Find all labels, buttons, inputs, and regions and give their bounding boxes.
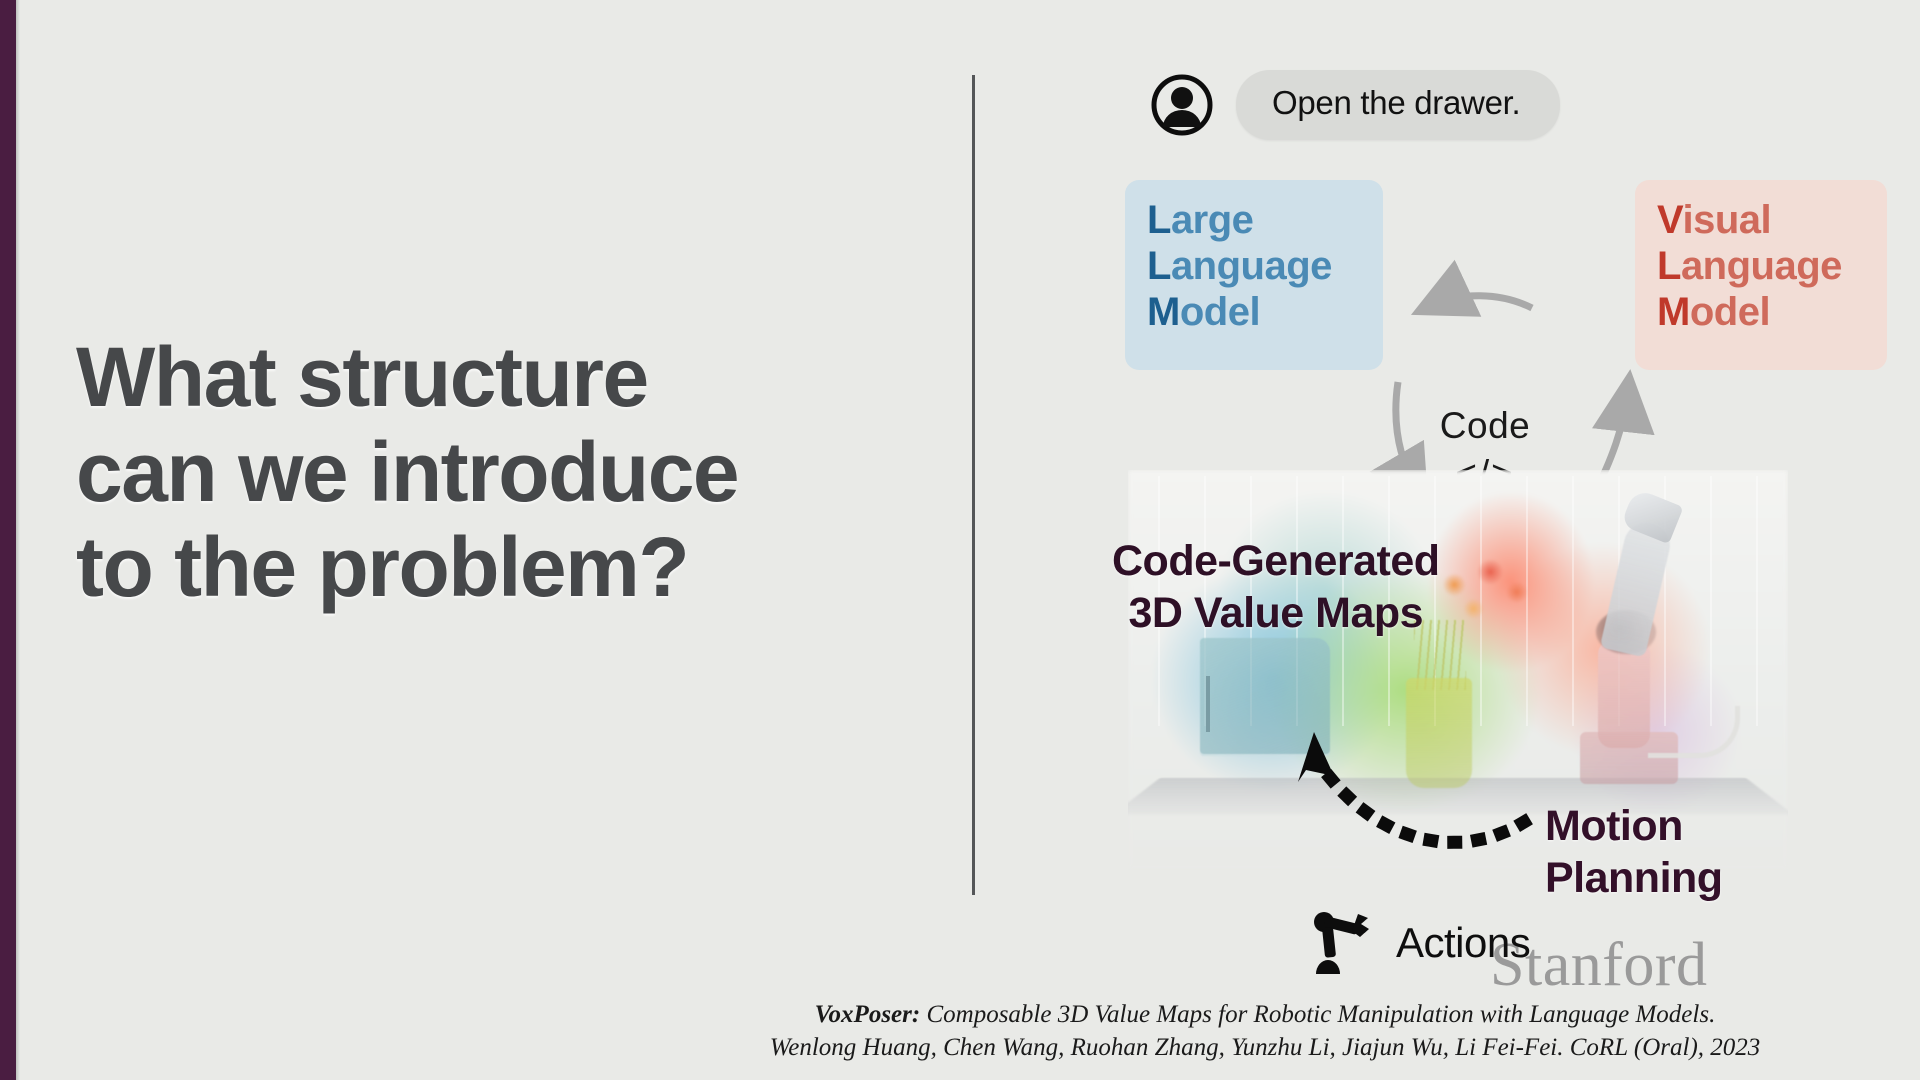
- llm-line-3: Model: [1147, 289, 1383, 335]
- motion-planning-line-2: Planning: [1545, 852, 1723, 904]
- citation-authors: Wenlong Huang, Chen Wang, Ruohan Zhang, …: [640, 1031, 1890, 1064]
- llm-rest-2: anguage: [1171, 244, 1332, 288]
- vertical-divider: [972, 75, 975, 895]
- vlm-cap-1: V: [1657, 198, 1682, 242]
- llm-cap-3: M: [1147, 290, 1180, 334]
- code-word: Code: [1405, 405, 1565, 447]
- vlm-line-3: Model: [1657, 289, 1887, 335]
- vlm-rest-2: anguage: [1681, 244, 1842, 288]
- motion-planning-line-1: Motion: [1545, 800, 1723, 852]
- citation-title-line: VoxPoser: Composable 3D Value Maps for R…: [640, 998, 1890, 1031]
- llm-line-2: Language: [1147, 243, 1383, 289]
- citation-subtitle: Composable 3D Value Maps for Robotic Man…: [920, 1001, 1715, 1028]
- citation-title: VoxPoser:: [815, 1001, 921, 1028]
- headline-line-3: to the problem?: [76, 520, 916, 615]
- robot-arm-icon: [1310, 910, 1382, 976]
- value-maps-label-line-1: Code-Generated: [1112, 535, 1440, 587]
- headline-line-2: can we introduce: [76, 425, 916, 520]
- slide-accent-bar: [0, 0, 16, 1080]
- voxposer-diagram: Open the drawer. Large Language Model Vi…: [1000, 30, 1900, 1040]
- trajectory-arrowhead: [1298, 732, 1334, 782]
- actions-row: Actions: [1310, 910, 1530, 976]
- llm-rest-1: arge: [1171, 198, 1254, 242]
- llm-cap-1: L: [1147, 198, 1171, 242]
- vlm-line-1: Visual: [1657, 197, 1887, 243]
- motion-planning-label: Motion Planning: [1545, 800, 1723, 905]
- vlm-rest-1: isual: [1682, 198, 1771, 242]
- prompt-bubble: Open the drawer.: [1236, 70, 1560, 140]
- user-avatar-icon: [1150, 73, 1214, 137]
- llm-rest-3: odel: [1180, 290, 1260, 334]
- arrow-vlm-to-llm: [1430, 296, 1532, 308]
- user-prompt-row: Open the drawer.: [1150, 70, 1560, 140]
- slide-accent-bar-shadow: [16, 0, 20, 1080]
- trajectory-dots: [1324, 770, 1524, 842]
- vlm-line-2: Language: [1657, 243, 1887, 289]
- vlm-cap-2: L: [1657, 244, 1681, 288]
- headline-line-1: What structure: [76, 330, 916, 425]
- slide-headline: What structure can we introduce to the p…: [76, 330, 916, 615]
- vlm-cap-3: M: [1657, 290, 1690, 334]
- large-language-model-box: Large Language Model: [1125, 180, 1383, 370]
- citation-block: VoxPoser: Composable 3D Value Maps for R…: [640, 998, 1890, 1064]
- vlm-rest-3: odel: [1690, 290, 1770, 334]
- llm-line-1: Large: [1147, 197, 1383, 243]
- value-maps-label: Code-Generated 3D Value Maps: [1112, 535, 1440, 640]
- value-maps-label-line-2: 3D Value Maps: [1112, 587, 1440, 639]
- actions-label: Actions: [1396, 919, 1530, 967]
- visual-language-model-box: Visual Language Model: [1635, 180, 1887, 370]
- llm-cap-2: L: [1147, 244, 1171, 288]
